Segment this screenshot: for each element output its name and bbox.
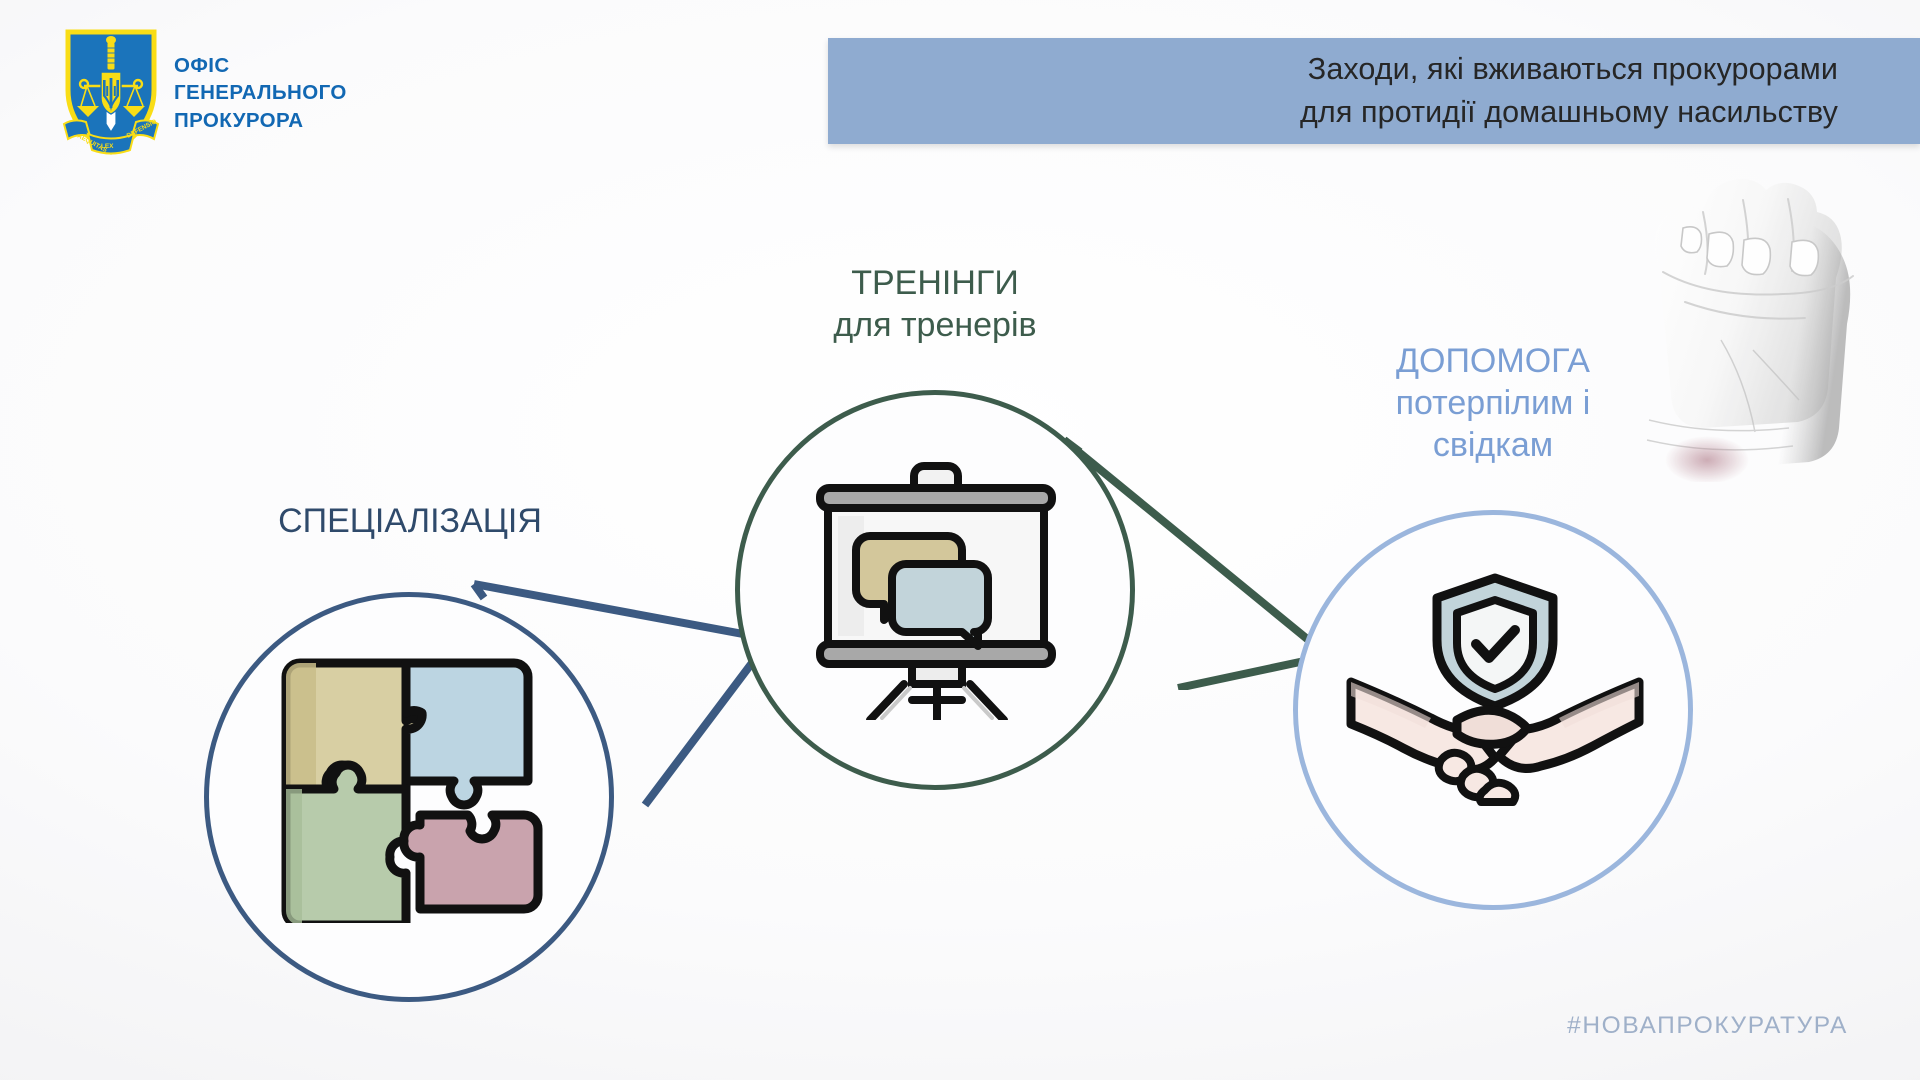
presentation-board-icon xyxy=(812,460,1064,720)
node-label-trainings: ТРЕНІНГИ для тренерів xyxy=(700,262,1170,346)
puzzle-pieces-icon xyxy=(272,655,552,923)
handshake-shield-icon xyxy=(1345,570,1645,810)
organization-logo: AEQUITAS LEX DEFENSIO ОФІС ГЕНЕРАЛЬНОГО … xyxy=(62,28,347,158)
prosecutor-general-office-emblem: AEQUITAS LEX DEFENSIO xyxy=(62,28,160,158)
slide-title: Заходи, які вживаються прокурорами для п… xyxy=(1300,48,1838,135)
node-label-specialization: СПЕЦІАЛІЗАЦІЯ xyxy=(160,500,660,542)
emblem-motto-center: LEX xyxy=(101,143,114,150)
slide-canvas: AEQUITAS LEX DEFENSIO ОФІС ГЕНЕРАЛЬНОГО … xyxy=(0,0,1920,1080)
slide-title-banner: Заходи, які вживаються прокурорами для п… xyxy=(828,38,1920,144)
node-label-assistance: ДОПОМОГА потерпілим і свідкам xyxy=(1272,340,1714,466)
organization-name: ОФІС ГЕНЕРАЛЬНОГО ПРОКУРОРА xyxy=(174,52,347,134)
footer-hashtag: #НОВАПРОКУРАТУРА xyxy=(1567,1012,1848,1040)
